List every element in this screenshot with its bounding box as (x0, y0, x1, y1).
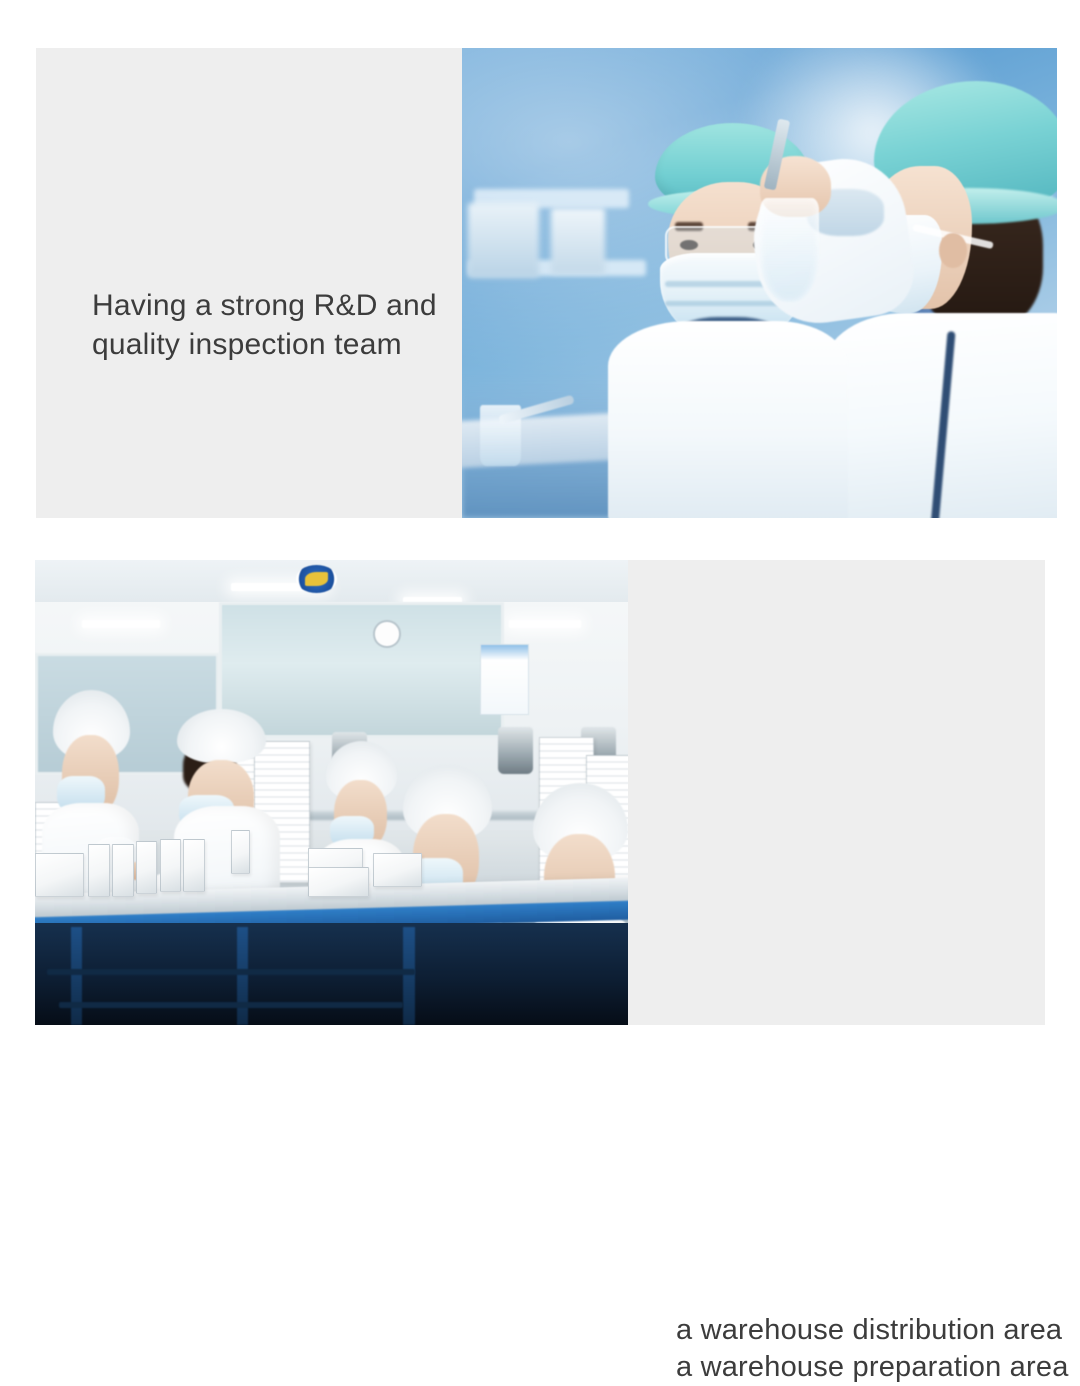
table-leg-2 (237, 927, 249, 1025)
steel-container-2 (498, 727, 534, 774)
carton-4 (160, 839, 182, 892)
carton-3 (136, 841, 158, 894)
worker-2-hairnet (177, 709, 266, 764)
table-leg-3 (403, 927, 415, 1025)
bottom-caption-text: a warehouse distribution area a warehous… (676, 1312, 1076, 1386)
wall-clock-icon (373, 620, 401, 647)
carton-2 (112, 844, 134, 897)
carton-tray-2 (308, 867, 369, 897)
ceiling-light-1 (82, 620, 159, 627)
top-caption-text: Having a strong R&D and quality inspecti… (92, 286, 492, 364)
technician-right-ear (939, 233, 966, 269)
lab-rack (468, 203, 539, 278)
technician-left-lab-coat (608, 321, 848, 518)
lab-inspection-photo (462, 48, 1057, 518)
lab-rack-2 (551, 208, 605, 274)
carton-tray-3 (373, 853, 422, 888)
carton-tray-4 (35, 853, 84, 897)
top-text-panel: Having a strong R&D and quality inspecti… (36, 48, 466, 518)
table-cross-bar-1 (47, 969, 415, 975)
warehouse-packing-photo (35, 560, 628, 1025)
table-cross-bar-2 (59, 1002, 403, 1008)
lab-flask (760, 198, 820, 301)
wall-notice-poster (480, 644, 529, 716)
blue-circular-sign-icon (296, 565, 338, 593)
carton-6 (231, 830, 251, 874)
carton-1 (88, 844, 110, 897)
ceiling-light-5 (509, 620, 580, 627)
carton-5 (183, 839, 205, 892)
table-leg-1 (71, 927, 83, 1025)
page-root: Having a strong R&D and quality inspecti… (0, 0, 1080, 1080)
